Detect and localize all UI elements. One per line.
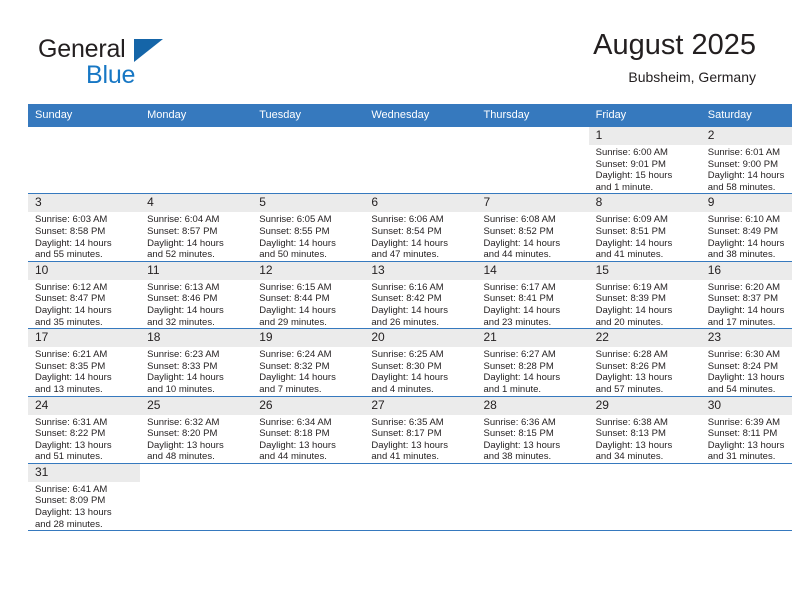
daylight-text-line2: and 20 minutes. (596, 317, 697, 329)
day-details: Sunrise: 6:04 AMSunset: 8:57 PMDaylight:… (140, 212, 252, 260)
daylight-text-line2: and 23 minutes. (484, 317, 585, 329)
daylight-text-line1: Daylight: 13 hours (35, 507, 136, 519)
sunset-text: Sunset: 8:37 PM (708, 293, 792, 305)
sunrise-text: Sunrise: 6:10 AM (708, 214, 792, 226)
sunset-text: Sunset: 8:26 PM (596, 361, 697, 373)
daylight-text-line1: Daylight: 14 hours (484, 238, 585, 250)
daylight-text-line1: Daylight: 14 hours (708, 238, 792, 250)
day-details: Sunrise: 6:36 AMSunset: 8:15 PMDaylight:… (477, 415, 589, 463)
day-details: Sunrise: 6:03 AMSunset: 8:58 PMDaylight:… (28, 212, 140, 260)
daylight-text-line2: and 35 minutes. (35, 317, 136, 329)
general-blue-logo[interactable]: General Blue (38, 35, 238, 91)
day-details: Sunrise: 6:28 AMSunset: 8:26 PMDaylight:… (589, 347, 701, 395)
calendar-day-cell[interactable]: 24Sunrise: 6:31 AMSunset: 8:22 PMDayligh… (28, 396, 140, 463)
sunrise-text: Sunrise: 6:28 AM (596, 349, 697, 361)
day-number: 13 (364, 262, 476, 280)
weekday-header-monday: Monday (140, 104, 252, 127)
sunrise-text: Sunrise: 6:36 AM (484, 417, 585, 429)
daylight-text-line1: Daylight: 14 hours (35, 372, 136, 384)
calendar-week-row: 31Sunrise: 6:41 AMSunset: 8:09 PMDayligh… (28, 463, 792, 530)
day-details: Sunrise: 6:17 AMSunset: 8:41 PMDaylight:… (477, 280, 589, 328)
day-number: 26 (252, 397, 364, 415)
daylight-text-line2: and 17 minutes. (708, 317, 792, 329)
calendar-day-cell[interactable]: 25Sunrise: 6:32 AMSunset: 8:20 PMDayligh… (140, 396, 252, 463)
calendar-day-cell[interactable]: 27Sunrise: 6:35 AMSunset: 8:17 PMDayligh… (364, 396, 476, 463)
daylight-text-line2: and 44 minutes. (259, 451, 360, 463)
day-number: 15 (589, 262, 701, 280)
daylight-text-line1: Daylight: 14 hours (596, 238, 697, 250)
sunrise-text: Sunrise: 6:25 AM (371, 349, 472, 361)
calendar-empty-cell (701, 463, 792, 530)
calendar-day-cell[interactable]: 6Sunrise: 6:06 AMSunset: 8:54 PMDaylight… (364, 194, 476, 261)
day-details: Sunrise: 6:13 AMSunset: 8:46 PMDaylight:… (140, 280, 252, 328)
day-details: Sunrise: 6:19 AMSunset: 8:39 PMDaylight:… (589, 280, 701, 328)
sunset-text: Sunset: 8:44 PM (259, 293, 360, 305)
sunset-text: Sunset: 8:28 PM (484, 361, 585, 373)
calendar-day-cell[interactable]: 19Sunrise: 6:24 AMSunset: 8:32 PMDayligh… (252, 329, 364, 396)
daylight-text-line2: and 44 minutes. (484, 249, 585, 261)
day-number: 12 (252, 262, 364, 280)
calendar-day-cell[interactable]: 29Sunrise: 6:38 AMSunset: 8:13 PMDayligh… (589, 396, 701, 463)
day-number: 20 (364, 329, 476, 347)
calendar-day-cell[interactable]: 9Sunrise: 6:10 AMSunset: 8:49 PMDaylight… (701, 194, 792, 261)
day-details: Sunrise: 6:21 AMSunset: 8:35 PMDaylight:… (28, 347, 140, 395)
sunrise-text: Sunrise: 6:34 AM (259, 417, 360, 429)
day-number: 23 (701, 329, 792, 347)
daylight-text-line1: Daylight: 14 hours (35, 305, 136, 317)
day-details: Sunrise: 6:30 AMSunset: 8:24 PMDaylight:… (701, 347, 792, 395)
daylight-text-line1: Daylight: 14 hours (371, 372, 472, 384)
day-number: 24 (28, 397, 140, 415)
calendar-day-cell[interactable]: 3Sunrise: 6:03 AMSunset: 8:58 PMDaylight… (28, 194, 140, 261)
sunset-text: Sunset: 8:57 PM (147, 226, 248, 238)
logo-text-blue: Blue (86, 61, 135, 90)
calendar-week-row: 10Sunrise: 6:12 AMSunset: 8:47 PMDayligh… (28, 261, 792, 328)
sunset-text: Sunset: 8:11 PM (708, 428, 792, 440)
calendar-day-cell[interactable]: 13Sunrise: 6:16 AMSunset: 8:42 PMDayligh… (364, 261, 476, 328)
day-number: 10 (28, 262, 140, 280)
sunrise-text: Sunrise: 6:17 AM (484, 282, 585, 294)
day-number: 25 (140, 397, 252, 415)
calendar-day-cell[interactable]: 12Sunrise: 6:15 AMSunset: 8:44 PMDayligh… (252, 261, 364, 328)
page-title: August 2025 (593, 28, 756, 62)
sunset-text: Sunset: 8:47 PM (35, 293, 136, 305)
sunset-text: Sunset: 8:54 PM (371, 226, 472, 238)
daylight-text-line2: and 28 minutes. (35, 519, 136, 531)
day-number: 7 (477, 194, 589, 212)
sunrise-text: Sunrise: 6:00 AM (596, 147, 697, 159)
sunset-text: Sunset: 8:09 PM (35, 495, 136, 507)
sunrise-text: Sunrise: 6:12 AM (35, 282, 136, 294)
calendar-week-row: 17Sunrise: 6:21 AMSunset: 8:35 PMDayligh… (28, 329, 792, 396)
day-number: 14 (477, 262, 589, 280)
daylight-text-line1: Daylight: 14 hours (259, 305, 360, 317)
daylight-text-line2: and 31 minutes. (708, 451, 792, 463)
sunset-text: Sunset: 8:42 PM (371, 293, 472, 305)
calendar-day-cell[interactable]: 7Sunrise: 6:08 AMSunset: 8:52 PMDaylight… (477, 194, 589, 261)
day-details: Sunrise: 6:32 AMSunset: 8:20 PMDaylight:… (140, 415, 252, 463)
sunset-text: Sunset: 8:46 PM (147, 293, 248, 305)
weekday-header-friday: Friday (589, 104, 701, 127)
calendar-day-cell[interactable]: 22Sunrise: 6:28 AMSunset: 8:26 PMDayligh… (589, 329, 701, 396)
day-details: Sunrise: 6:24 AMSunset: 8:32 PMDaylight:… (252, 347, 364, 395)
calendar-day-cell[interactable]: 20Sunrise: 6:25 AMSunset: 8:30 PMDayligh… (364, 329, 476, 396)
day-details: Sunrise: 6:38 AMSunset: 8:13 PMDaylight:… (589, 415, 701, 463)
logo-triangle-icon (134, 39, 163, 62)
calendar-day-cell[interactable]: 8Sunrise: 6:09 AMSunset: 8:51 PMDaylight… (589, 194, 701, 261)
sunrise-text: Sunrise: 6:23 AM (147, 349, 248, 361)
daylight-text-line1: Daylight: 14 hours (147, 372, 248, 384)
sunrise-text: Sunrise: 6:41 AM (35, 484, 136, 496)
calendar-day-cell[interactable]: 17Sunrise: 6:21 AMSunset: 8:35 PMDayligh… (28, 329, 140, 396)
sunrise-text: Sunrise: 6:31 AM (35, 417, 136, 429)
daylight-text-line2: and 55 minutes. (35, 249, 136, 261)
daylight-text-line1: Daylight: 14 hours (259, 238, 360, 250)
sunrise-text: Sunrise: 6:05 AM (259, 214, 360, 226)
day-details: Sunrise: 6:16 AMSunset: 8:42 PMDaylight:… (364, 280, 476, 328)
sunset-text: Sunset: 8:24 PM (708, 361, 792, 373)
sunset-text: Sunset: 8:39 PM (596, 293, 697, 305)
daylight-text-line1: Daylight: 14 hours (147, 305, 248, 317)
weekday-header-sunday: Sunday (28, 104, 140, 127)
daylight-text-line2: and 38 minutes. (708, 249, 792, 261)
day-number: 4 (140, 194, 252, 212)
sunrise-text: Sunrise: 6:39 AM (708, 417, 792, 429)
sunrise-text: Sunrise: 6:16 AM (371, 282, 472, 294)
sunset-text: Sunset: 8:33 PM (147, 361, 248, 373)
calendar-header-row: Sunday Monday Tuesday Wednesday Thursday… (28, 104, 792, 127)
day-details: Sunrise: 6:06 AMSunset: 8:54 PMDaylight:… (364, 212, 476, 260)
calendar-day-cell[interactable]: 14Sunrise: 6:17 AMSunset: 8:41 PMDayligh… (477, 261, 589, 328)
day-details: Sunrise: 6:12 AMSunset: 8:47 PMDaylight:… (28, 280, 140, 328)
daylight-text-line2: and 13 minutes. (35, 384, 136, 396)
daylight-text-line1: Daylight: 13 hours (371, 440, 472, 452)
sunset-text: Sunset: 8:55 PM (259, 226, 360, 238)
sunrise-text: Sunrise: 6:03 AM (35, 214, 136, 226)
day-number: 19 (252, 329, 364, 347)
daylight-text-line2: and 51 minutes. (35, 451, 136, 463)
calendar-week-row: 1Sunrise: 6:00 AMSunset: 9:01 PMDaylight… (28, 127, 792, 194)
daylight-text-line1: Daylight: 14 hours (259, 372, 360, 384)
calendar-empty-cell (28, 127, 140, 194)
sunrise-text: Sunrise: 6:19 AM (596, 282, 697, 294)
calendar-empty-cell (140, 463, 252, 530)
calendar-day-cell[interactable]: 21Sunrise: 6:27 AMSunset: 8:28 PMDayligh… (477, 329, 589, 396)
daylight-text-line2: and 57 minutes. (596, 384, 697, 396)
calendar-day-cell[interactable]: 15Sunrise: 6:19 AMSunset: 8:39 PMDayligh… (589, 261, 701, 328)
daylight-text-line2: and 52 minutes. (147, 249, 248, 261)
sunrise-sunset-calendar: Sunday Monday Tuesday Wednesday Thursday… (28, 104, 792, 531)
sunset-text: Sunset: 8:22 PM (35, 428, 136, 440)
daylight-text-line1: Daylight: 14 hours (35, 238, 136, 250)
daylight-text-line2: and 38 minutes. (484, 451, 585, 463)
day-number: 29 (589, 397, 701, 415)
calendar-week-row: 24Sunrise: 6:31 AMSunset: 8:22 PMDayligh… (28, 396, 792, 463)
calendar-body: 1Sunrise: 6:00 AMSunset: 9:01 PMDaylight… (28, 127, 792, 531)
daylight-text-line1: Daylight: 13 hours (596, 372, 697, 384)
daylight-text-line2: and 34 minutes. (596, 451, 697, 463)
daylight-text-line1: Daylight: 14 hours (147, 238, 248, 250)
daylight-text-line2: and 48 minutes. (147, 451, 248, 463)
calendar-empty-cell (252, 127, 364, 194)
day-number: 11 (140, 262, 252, 280)
day-details: Sunrise: 6:34 AMSunset: 8:18 PMDaylight:… (252, 415, 364, 463)
daylight-text-line1: Daylight: 13 hours (708, 372, 792, 384)
calendar-day-cell[interactable]: 10Sunrise: 6:12 AMSunset: 8:47 PMDayligh… (28, 261, 140, 328)
day-number: 3 (28, 194, 140, 212)
weekday-header-wednesday: Wednesday (364, 104, 476, 127)
calendar-page: General Blue August 2025 Bubsheim, Germa… (0, 0, 792, 612)
calendar-empty-cell (477, 127, 589, 194)
daylight-text-line2: and 41 minutes. (371, 451, 472, 463)
sunset-text: Sunset: 8:18 PM (259, 428, 360, 440)
calendar-day-cell[interactable]: 16Sunrise: 6:20 AMSunset: 8:37 PMDayligh… (701, 261, 792, 328)
day-details: Sunrise: 6:27 AMSunset: 8:28 PMDaylight:… (477, 347, 589, 395)
daylight-text-line2: and 32 minutes. (147, 317, 248, 329)
sunrise-text: Sunrise: 6:15 AM (259, 282, 360, 294)
sunset-text: Sunset: 8:49 PM (708, 226, 792, 238)
weekday-header-saturday: Saturday (701, 104, 792, 127)
sunset-text: Sunset: 8:32 PM (259, 361, 360, 373)
sunset-text: Sunset: 8:13 PM (596, 428, 697, 440)
sunset-text: Sunset: 8:51 PM (596, 226, 697, 238)
daylight-text-line1: Daylight: 13 hours (708, 440, 792, 452)
day-number: 5 (252, 194, 364, 212)
day-number: 1 (589, 127, 701, 145)
daylight-text-line1: Daylight: 13 hours (147, 440, 248, 452)
sunrise-text: Sunrise: 6:08 AM (484, 214, 585, 226)
day-number: 16 (701, 262, 792, 280)
day-number: 18 (140, 329, 252, 347)
day-number: 22 (589, 329, 701, 347)
daylight-text-line2: and 58 minutes. (708, 182, 792, 194)
sunset-text: Sunset: 8:35 PM (35, 361, 136, 373)
daylight-text-line2: and 54 minutes. (708, 384, 792, 396)
sunrise-text: Sunrise: 6:13 AM (147, 282, 248, 294)
calendar-day-cell[interactable]: 2Sunrise: 6:01 AMSunset: 9:00 PMDaylight… (701, 127, 792, 194)
daylight-text-line2: and 47 minutes. (371, 249, 472, 261)
day-number: 6 (364, 194, 476, 212)
daylight-text-line1: Daylight: 14 hours (484, 305, 585, 317)
day-number: 30 (701, 397, 792, 415)
day-number: 27 (364, 397, 476, 415)
calendar-day-cell[interactable]: 4Sunrise: 6:04 AMSunset: 8:57 PMDaylight… (140, 194, 252, 261)
daylight-text-line1: Daylight: 14 hours (708, 170, 792, 182)
page-subtitle: Bubsheim, Germany (593, 67, 756, 87)
daylight-text-line1: Daylight: 14 hours (484, 372, 585, 384)
daylight-text-line1: Daylight: 14 hours (371, 305, 472, 317)
sunset-text: Sunset: 8:20 PM (147, 428, 248, 440)
day-number: 31 (28, 464, 140, 482)
sunrise-text: Sunrise: 6:32 AM (147, 417, 248, 429)
day-details: Sunrise: 6:09 AMSunset: 8:51 PMDaylight:… (589, 212, 701, 260)
daylight-text-line2: and 41 minutes. (596, 249, 697, 261)
daylight-text-line2: and 29 minutes. (259, 317, 360, 329)
day-details: Sunrise: 6:01 AMSunset: 9:00 PMDaylight:… (701, 145, 792, 193)
daylight-text-line1: Daylight: 15 hours (596, 170, 697, 182)
sunset-text: Sunset: 8:17 PM (371, 428, 472, 440)
sunrise-text: Sunrise: 6:24 AM (259, 349, 360, 361)
day-number: 8 (589, 194, 701, 212)
daylight-text-line2: and 7 minutes. (259, 384, 360, 396)
calendar-empty-cell (252, 463, 364, 530)
daylight-text-line2: and 50 minutes. (259, 249, 360, 261)
calendar-day-cell[interactable]: 30Sunrise: 6:39 AMSunset: 8:11 PMDayligh… (701, 396, 792, 463)
calendar-empty-cell (364, 127, 476, 194)
calendar-day-cell[interactable]: 11Sunrise: 6:13 AMSunset: 8:46 PMDayligh… (140, 261, 252, 328)
day-details: Sunrise: 6:08 AMSunset: 8:52 PMDaylight:… (477, 212, 589, 260)
daylight-text-line1: Daylight: 14 hours (371, 238, 472, 250)
calendar-empty-cell (364, 463, 476, 530)
sunrise-text: Sunrise: 6:04 AM (147, 214, 248, 226)
calendar-day-cell[interactable]: 26Sunrise: 6:34 AMSunset: 8:18 PMDayligh… (252, 396, 364, 463)
calendar-day-cell[interactable]: 28Sunrise: 6:36 AMSunset: 8:15 PMDayligh… (477, 396, 589, 463)
day-details: Sunrise: 6:15 AMSunset: 8:44 PMDaylight:… (252, 280, 364, 328)
sunset-text: Sunset: 9:01 PM (596, 159, 697, 171)
day-number: 21 (477, 329, 589, 347)
daylight-text-line1: Daylight: 13 hours (259, 440, 360, 452)
calendar-day-cell[interactable]: 23Sunrise: 6:30 AMSunset: 8:24 PMDayligh… (701, 329, 792, 396)
day-number: 2 (701, 127, 792, 145)
day-details: Sunrise: 6:25 AMSunset: 8:30 PMDaylight:… (364, 347, 476, 395)
sunset-text: Sunset: 8:30 PM (371, 361, 472, 373)
calendar-empty-cell (589, 463, 701, 530)
title-block: August 2025 Bubsheim, Germany (593, 28, 756, 87)
logo-divider (80, 62, 83, 88)
calendar-week-row: 3Sunrise: 6:03 AMSunset: 8:58 PMDaylight… (28, 194, 792, 261)
sunrise-text: Sunrise: 6:35 AM (371, 417, 472, 429)
sunrise-text: Sunrise: 6:09 AM (596, 214, 697, 226)
sunset-text: Sunset: 8:41 PM (484, 293, 585, 305)
day-number: 17 (28, 329, 140, 347)
calendar-empty-cell (477, 463, 589, 530)
day-details: Sunrise: 6:05 AMSunset: 8:55 PMDaylight:… (252, 212, 364, 260)
day-details: Sunrise: 6:31 AMSunset: 8:22 PMDaylight:… (28, 415, 140, 463)
day-number: 9 (701, 194, 792, 212)
page-header: General Blue August 2025 Bubsheim, Germa… (0, 0, 792, 104)
day-details: Sunrise: 6:00 AMSunset: 9:01 PMDaylight:… (589, 145, 701, 193)
sunset-text: Sunset: 8:15 PM (484, 428, 585, 440)
day-details: Sunrise: 6:39 AMSunset: 8:11 PMDaylight:… (701, 415, 792, 463)
day-number: 28 (477, 397, 589, 415)
logo-text-general: General (38, 35, 126, 64)
day-details: Sunrise: 6:10 AMSunset: 8:49 PMDaylight:… (701, 212, 792, 260)
calendar-empty-cell (140, 127, 252, 194)
sunrise-text: Sunrise: 6:01 AM (708, 147, 792, 159)
sunset-text: Sunset: 8:52 PM (484, 226, 585, 238)
sunrise-text: Sunrise: 6:06 AM (371, 214, 472, 226)
daylight-text-line1: Daylight: 13 hours (35, 440, 136, 452)
calendar-day-cell[interactable]: 31Sunrise: 6:41 AMSunset: 8:09 PMDayligh… (28, 463, 140, 530)
day-details: Sunrise: 6:41 AMSunset: 8:09 PMDaylight:… (28, 482, 140, 530)
calendar-day-cell[interactable]: 5Sunrise: 6:05 AMSunset: 8:55 PMDaylight… (252, 194, 364, 261)
sunset-text: Sunset: 8:58 PM (35, 226, 136, 238)
daylight-text-line1: Daylight: 13 hours (596, 440, 697, 452)
calendar-day-cell[interactable]: 1Sunrise: 6:00 AMSunset: 9:01 PMDaylight… (589, 127, 701, 194)
day-details: Sunrise: 6:23 AMSunset: 8:33 PMDaylight:… (140, 347, 252, 395)
daylight-text-line1: Daylight: 13 hours (484, 440, 585, 452)
sunset-text: Sunset: 9:00 PM (708, 159, 792, 171)
day-details: Sunrise: 6:35 AMSunset: 8:17 PMDaylight:… (364, 415, 476, 463)
sunrise-text: Sunrise: 6:20 AM (708, 282, 792, 294)
sunrise-text: Sunrise: 6:21 AM (35, 349, 136, 361)
sunrise-text: Sunrise: 6:38 AM (596, 417, 697, 429)
daylight-text-line2: and 26 minutes. (371, 317, 472, 329)
daylight-text-line2: and 10 minutes. (147, 384, 248, 396)
sunrise-text: Sunrise: 6:27 AM (484, 349, 585, 361)
daylight-text-line1: Daylight: 14 hours (708, 305, 792, 317)
day-details: Sunrise: 6:20 AMSunset: 8:37 PMDaylight:… (701, 280, 792, 328)
daylight-text-line1: Daylight: 14 hours (596, 305, 697, 317)
calendar-day-cell[interactable]: 18Sunrise: 6:23 AMSunset: 8:33 PMDayligh… (140, 329, 252, 396)
weekday-header-thursday: Thursday (477, 104, 589, 127)
sunrise-text: Sunrise: 6:30 AM (708, 349, 792, 361)
weekday-header-tuesday: Tuesday (252, 104, 364, 127)
daylight-text-line2: and 4 minutes. (371, 384, 472, 396)
daylight-text-line2: and 1 minute. (484, 384, 585, 396)
daylight-text-line2: and 1 minute. (596, 182, 697, 194)
